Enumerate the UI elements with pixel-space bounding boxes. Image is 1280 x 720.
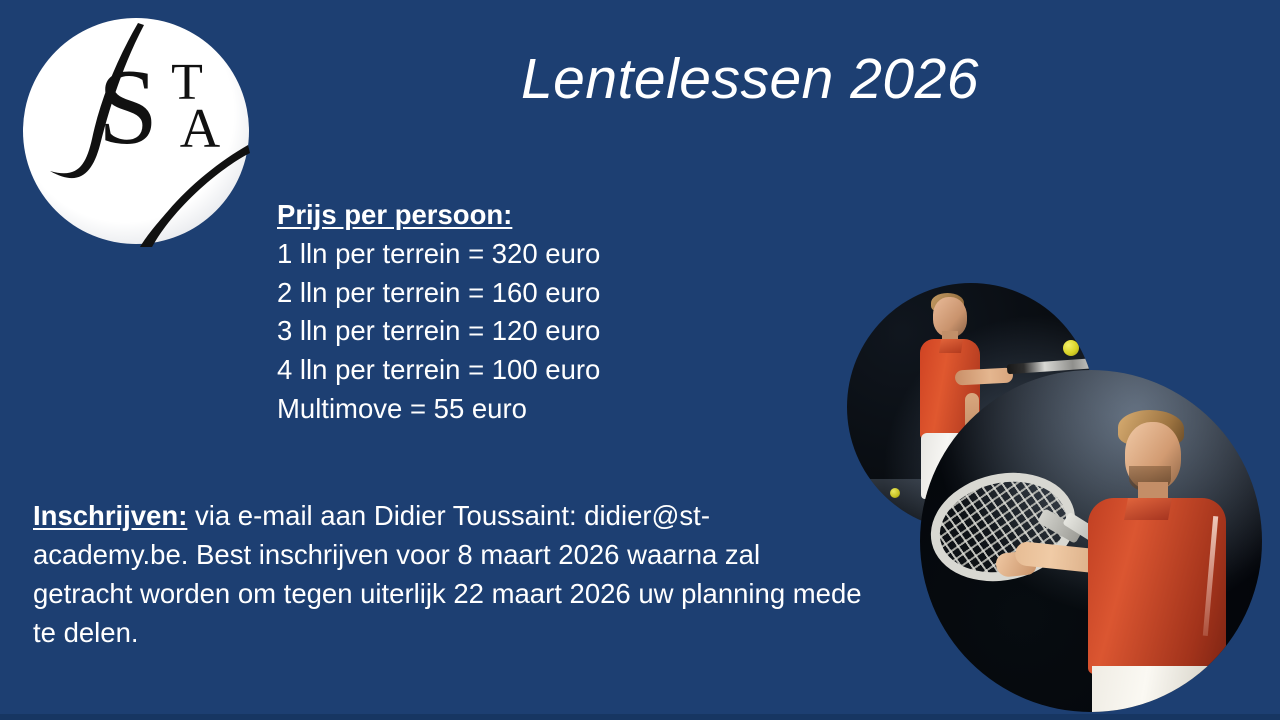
player-collar bbox=[1124, 498, 1172, 520]
registration-paragraph: Inschrijven: via e-mail aan Didier Touss… bbox=[33, 496, 863, 652]
price-line: 4 lln per terrein = 100 euro bbox=[277, 351, 600, 390]
player-collar bbox=[939, 339, 963, 353]
tennis-player-closeup-photo bbox=[920, 370, 1262, 712]
slide-canvas: S T A Lentelessen 2026 Prijs per persoon… bbox=[0, 0, 1280, 720]
sta-tennis-academy-logo: S T A bbox=[20, 15, 252, 247]
slide-bottom-edge bbox=[0, 714, 1280, 720]
price-line: 2 lln per terrein = 160 euro bbox=[277, 274, 600, 313]
tennis-ball-icon bbox=[1063, 340, 1079, 356]
registration-label: Inschrijven: bbox=[33, 500, 187, 531]
price-block: Prijs per persoon: 1 lln per terrein = 3… bbox=[277, 196, 600, 429]
player-red-polo bbox=[1088, 498, 1226, 674]
price-line: 3 lln per terrein = 120 euro bbox=[277, 312, 600, 351]
logo-letter-a: A bbox=[180, 98, 221, 160]
page-title: Lentelessen 2026 bbox=[300, 48, 1200, 112]
price-heading: Prijs per persoon: bbox=[277, 196, 600, 235]
price-line: Multimove = 55 euro bbox=[277, 390, 600, 429]
price-line: 1 lln per terrein = 320 euro bbox=[277, 235, 600, 274]
tennis-ball-icon bbox=[890, 488, 900, 498]
player-white-pants bbox=[1092, 666, 1222, 712]
logo-letter-s: S bbox=[98, 48, 158, 167]
